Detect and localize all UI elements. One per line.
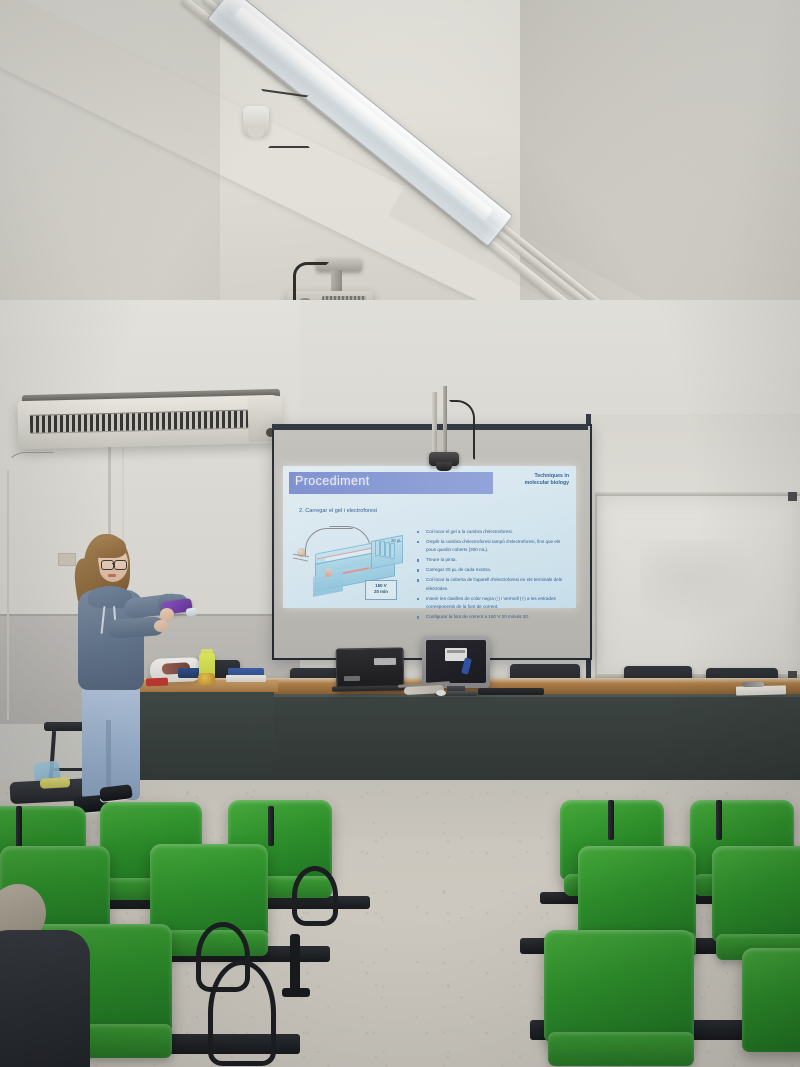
white-box bbox=[226, 675, 266, 682]
wall-above-whiteboard bbox=[588, 414, 800, 492]
chair-post bbox=[268, 806, 274, 846]
slide-subtitle: 2. Carregar el gel i electroforesi bbox=[299, 508, 377, 514]
comb-tooth bbox=[380, 541, 385, 558]
presenter-right-hand bbox=[160, 608, 174, 621]
whiteboard-corner bbox=[788, 492, 797, 501]
ceiling-wire bbox=[268, 118, 310, 148]
slide-bullet: Treure la pinta. bbox=[415, 556, 567, 565]
monitor-back-panel bbox=[426, 640, 486, 683]
slide-brand: Techniques in molecular biology bbox=[499, 473, 569, 487]
projection-screen-housing bbox=[272, 424, 588, 430]
slide-bullet-list: Col·locar el gel a la cambra d'electrofo… bbox=[415, 528, 567, 623]
keyboard[interactable] bbox=[478, 688, 544, 695]
electrophoresis-diagram: 20 µL 150 V 20 min bbox=[295, 522, 413, 600]
slide-bullet: Carregar 20 µL de cada mostra. bbox=[415, 566, 567, 575]
loose-wire bbox=[6, 452, 54, 494]
diagram-duration: 20 min bbox=[366, 589, 396, 595]
classroom-photo: Procediment Techniques in molecular biol… bbox=[0, 0, 800, 1067]
chair-foot bbox=[290, 934, 300, 992]
comb-tooth bbox=[375, 540, 380, 557]
presenter-jeans bbox=[82, 682, 140, 800]
comb-tooth bbox=[385, 542, 390, 559]
seated-attendee-body bbox=[0, 930, 90, 1067]
hanging-rod bbox=[443, 386, 447, 460]
slide-bullet: Inserir les clavilles de color negra (-)… bbox=[415, 595, 567, 612]
slide-bullet: Omplir la cambra d'electroforesi tampó d… bbox=[415, 538, 567, 555]
presenter-mouth bbox=[108, 574, 116, 577]
diagram-volume-label: 20 µL bbox=[391, 538, 402, 543]
whiteboard-rail-top bbox=[595, 492, 800, 496]
eyeglasses-right-lens bbox=[114, 560, 127, 570]
electrode-lead bbox=[293, 557, 308, 561]
presenter-left-hand bbox=[154, 620, 168, 632]
chair-post bbox=[716, 800, 722, 840]
gold-object bbox=[198, 673, 215, 685]
slide-bullet: Col·locar el gel a la cambra d'electrofo… bbox=[415, 528, 567, 537]
chair-post bbox=[608, 800, 614, 840]
monitor-label-text bbox=[447, 650, 465, 653]
slide-brand-line1: Techniques in bbox=[499, 473, 569, 480]
hanging-cable bbox=[449, 400, 475, 460]
presenter-hair-front bbox=[92, 536, 126, 558]
slide-bullet: Configurar la font de corrent a 150 V 20… bbox=[415, 613, 567, 622]
hanging-projector-cap bbox=[436, 462, 452, 471]
laptop-badge bbox=[374, 658, 396, 665]
whiteboard-smudge bbox=[640, 540, 760, 630]
glasses-on-desk bbox=[742, 682, 764, 687]
slide-brand-line2: molecular biology bbox=[499, 480, 569, 487]
mouse[interactable] bbox=[436, 690, 446, 696]
presenter bbox=[62, 534, 192, 834]
eyeglasses-left-lens bbox=[101, 560, 114, 570]
wall-seam bbox=[7, 470, 9, 720]
diagram-settings-box: 150 V 20 min bbox=[365, 580, 397, 600]
comb-tooth bbox=[390, 543, 395, 560]
slide-bullet: Col·locar la coberta de l'aparell d'elec… bbox=[415, 576, 567, 593]
slide-title: Procediment bbox=[295, 474, 370, 488]
chair-foot bbox=[282, 988, 310, 997]
laptop-logo bbox=[344, 676, 360, 681]
eyeglasses-bridge bbox=[112, 563, 114, 564]
projected-slide: Procediment Techniques in molecular biol… bbox=[283, 466, 576, 608]
pipette-tip-icon bbox=[325, 568, 331, 577]
